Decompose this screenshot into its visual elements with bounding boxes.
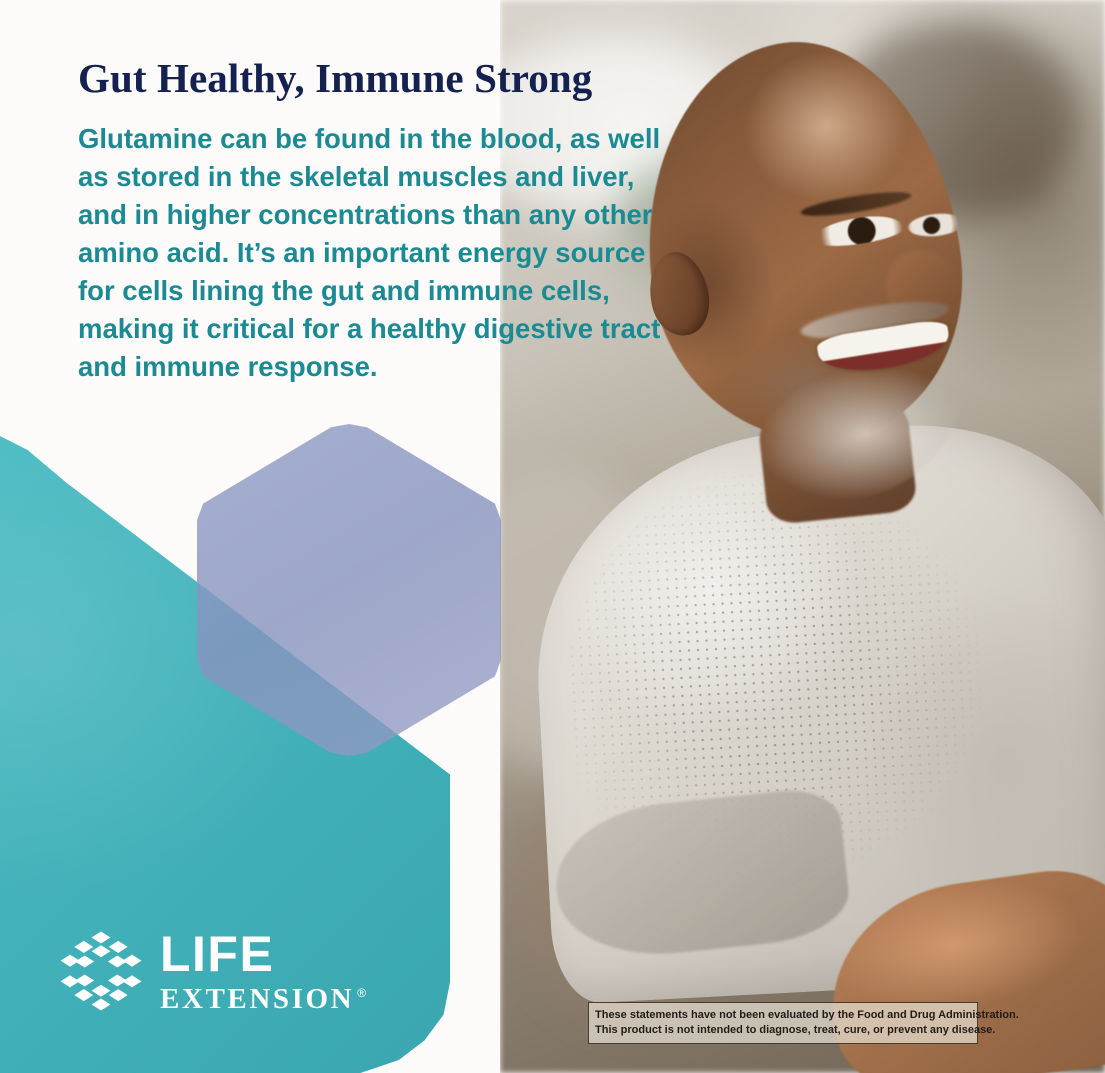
life-extension-hexagon-mark-icon	[58, 928, 144, 1014]
disclaimer-line-2: This product is not intended to diagnose…	[595, 1023, 971, 1038]
logo-wordmark: LIFE EXTENSION ®	[160, 929, 366, 1014]
brand-logo[interactable]: LIFE EXTENSION ®	[58, 928, 366, 1014]
disclaimer-line-1: These statements have not been evaluated…	[595, 1008, 971, 1023]
registered-trademark-symbol: ®	[357, 987, 366, 999]
body-paragraph: Glutamine can be found in the blood, as …	[78, 120, 678, 386]
fda-disclaimer-box: These statements have not been evaluated…	[588, 1002, 978, 1044]
logo-secondary-row: EXTENSION ®	[160, 985, 366, 1014]
logo-secondary-word: EXTENSION	[160, 985, 354, 1014]
headline: Gut Healthy, Immune Strong	[78, 56, 688, 100]
advertisement-canvas: Gut Healthy, Immune Strong Glutamine can…	[0, 0, 1105, 1073]
logo-primary-word: LIFE	[160, 929, 366, 979]
copy-block: Gut Healthy, Immune Strong Glutamine can…	[78, 56, 688, 386]
